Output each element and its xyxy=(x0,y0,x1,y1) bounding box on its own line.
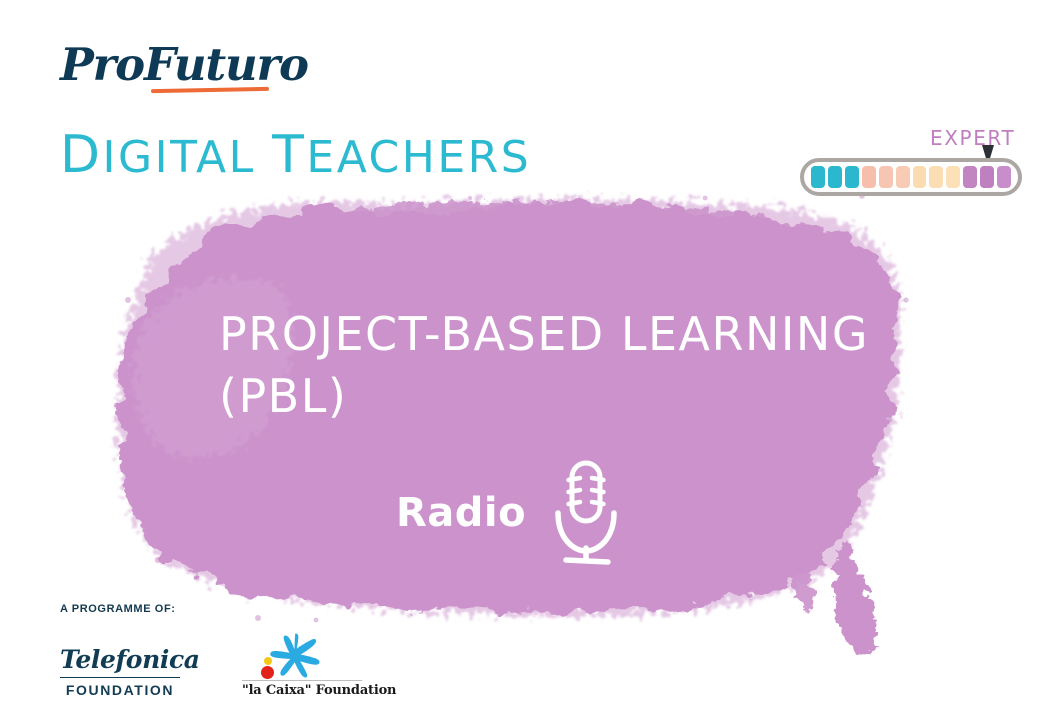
caixa-wordmark: "la Caixa" Foundation xyxy=(242,683,362,699)
page-title: DIGITAL TEACHERS xyxy=(60,130,531,183)
meter-segment xyxy=(845,166,859,188)
footer-logo-row: Telefonica FOUNDATION "la Caixa" Foundat… xyxy=(60,632,362,699)
level-progress-meter: EXPERT xyxy=(800,158,1022,196)
profuturo-wordmark: ProFuturo xyxy=(60,40,320,90)
slide-canvas: ProFuturo DIGITAL TEACHERS EXPERT Projec… xyxy=(0,0,1040,720)
meter-segment xyxy=(913,166,927,188)
telefonica-subtitle: FOUNDATION xyxy=(60,682,180,699)
course-title-line-1: Project-Based Learning xyxy=(219,303,899,365)
meter-segment xyxy=(896,166,910,188)
caixa-yellow-dot xyxy=(264,657,272,665)
profuturo-underline xyxy=(151,87,269,93)
footer: A PROGRAMME OF: Telefonica FOUNDATION "l xyxy=(60,602,460,712)
meter-segment xyxy=(963,166,977,188)
meter-segment xyxy=(980,166,994,188)
course-title-line-2: (PBL) xyxy=(219,365,899,427)
meter-segment xyxy=(828,166,842,188)
caixa-rule xyxy=(242,680,362,681)
telefonica-foundation-logo: Telefonica FOUNDATION xyxy=(60,645,180,699)
footer-kicker: A PROGRAMME OF: xyxy=(60,602,460,616)
caixa-star-mark xyxy=(242,632,362,680)
course-title: Project-Based Learning (PBL) xyxy=(219,303,899,427)
telefonica-rule xyxy=(60,677,180,678)
caixa-red-dot xyxy=(261,666,274,679)
profuturo-logo: ProFuturo xyxy=(60,40,320,102)
meter-segment xyxy=(811,166,825,188)
kicker-word-digital: IGITAL xyxy=(103,132,273,183)
level-label-expert: EXPERT xyxy=(930,126,1015,150)
meter-segment xyxy=(929,166,943,188)
meter-segment xyxy=(946,166,960,188)
kicker-initial-t: T xyxy=(272,125,306,185)
kicker-word-teachers: EACHERS xyxy=(306,132,531,183)
format-badge-radio: Radio xyxy=(396,460,622,566)
la-caixa-foundation-logo: "la Caixa" Foundation xyxy=(242,632,362,699)
meter-track xyxy=(800,158,1022,196)
format-label: Radio xyxy=(396,489,526,537)
meter-segment xyxy=(862,166,876,188)
meter-segment xyxy=(879,166,893,188)
kicker-initial-d: D xyxy=(60,125,103,185)
meter-segment xyxy=(997,166,1011,188)
microphone-icon xyxy=(550,460,622,566)
telefonica-wordmark: Telefonica xyxy=(60,645,180,675)
